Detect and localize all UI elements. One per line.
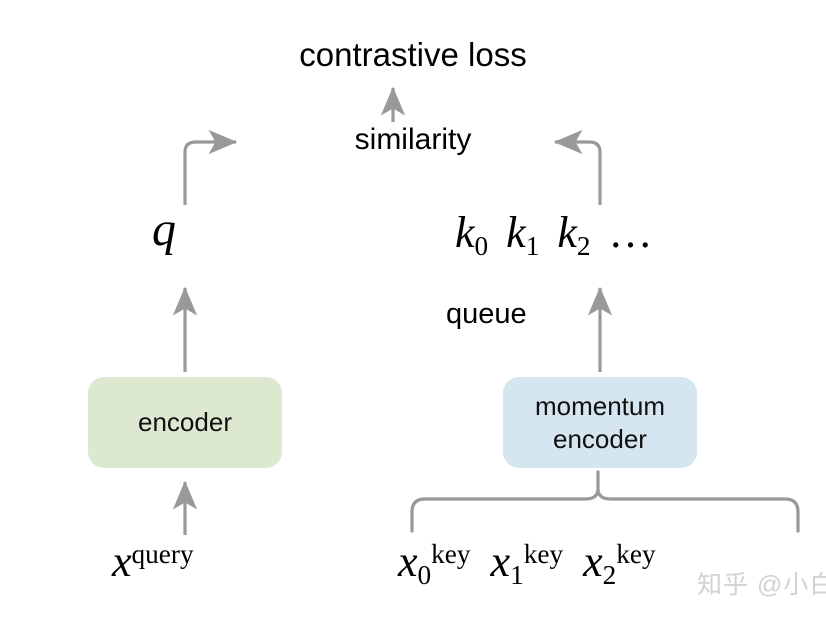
diagram-canvas: contrastive loss similarity q k0k1k2… qu… [0,0,826,634]
similarity-label: similarity [0,122,826,157]
x-key-symbols-group: x0keyx1keyx2key [398,536,676,591]
momentum-encoder-box[interactable]: momentum encoder [503,377,697,468]
key-ellipsis: … [609,208,655,257]
x-query-symbol: xquery [112,536,194,588]
key-symbol-2: k2 [557,208,590,257]
queue-brace [412,472,798,531]
x-key-symbol-2: x2key [583,537,656,586]
x-key-symbol-1: x1key [491,537,564,586]
key-symbols-group: k0k1k2… [455,207,655,262]
watermark: 知乎 @小白 [697,565,826,601]
momentum-encoder-line-1: momentum [535,391,665,421]
x-key-symbol-0: x0key [398,537,471,586]
momentum-encoder-box-label: momentum encoder [535,390,665,454]
momentum-encoder-line-2: encoder [553,424,647,454]
key-symbol-1: k1 [506,208,539,257]
contrastive-loss-label: contrastive loss [0,36,826,75]
query-symbol: q [152,202,176,259]
key-symbol-0: k0 [455,208,488,257]
encoder-box-label: encoder [138,406,232,438]
queue-label: queue [446,297,527,331]
encoder-box[interactable]: encoder [88,377,282,468]
